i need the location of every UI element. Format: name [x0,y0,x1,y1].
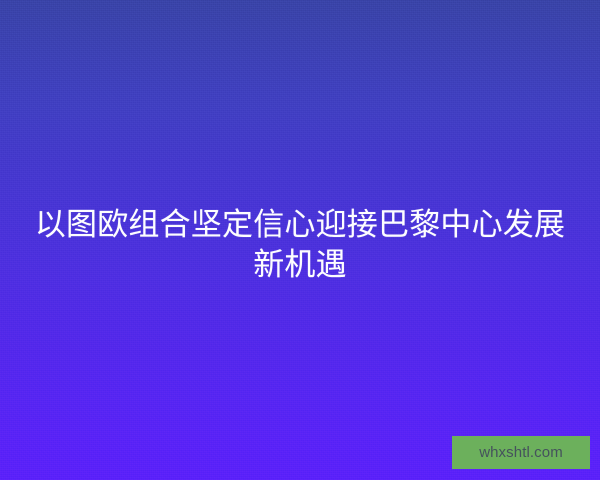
watermark-badge[interactable]: whxshtl.com [452,436,590,469]
watermark-label: whxshtl.com [479,445,563,460]
promo-banner-canvas: 以图欧组合坚定信心迎接巴黎中心发展新机遇 whxshtl.com [0,0,600,480]
headline-text: 以图欧组合坚定信心迎接巴黎中心发展新机遇 [26,205,574,285]
